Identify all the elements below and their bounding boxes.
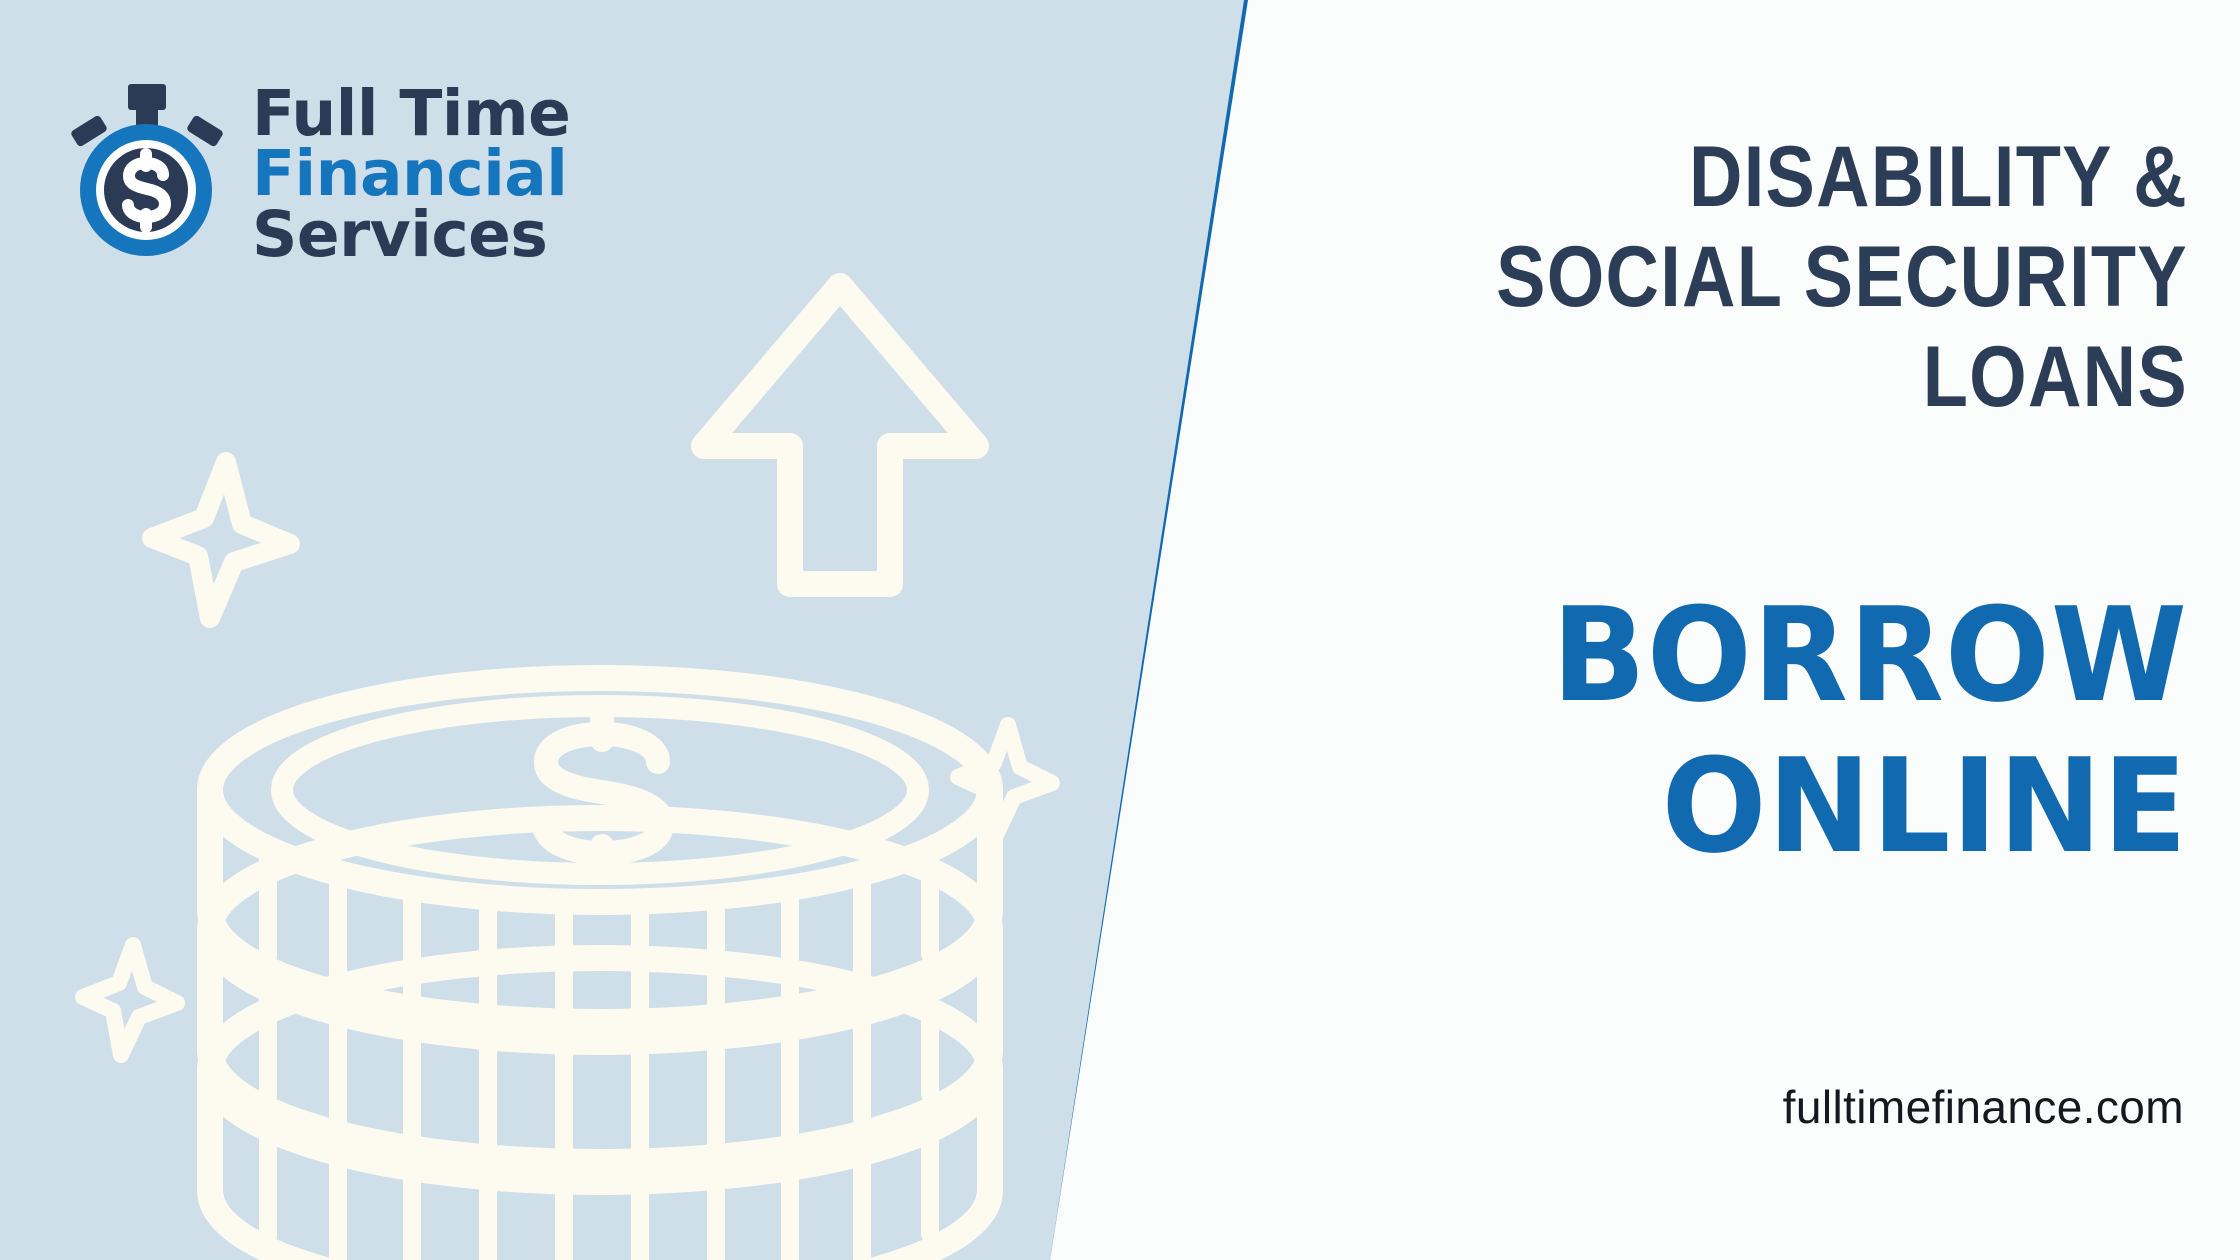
headline-line-1: DISABILITY & [1448,128,2188,228]
sparkle-star-icon [950,715,1060,845]
content-panel: DISABILITY & SOCIAL SECURITY LOANS BORRO… [1260,0,2240,1260]
headline-line-3: LOANS [1448,328,2188,428]
brand-logo[interactable]: Full Time Financial Services [62,78,570,265]
arrow-up-icon [690,270,990,600]
sparkle-star-icon [140,450,300,630]
coin-stack-dollar-icon [190,630,1010,1260]
website-url[interactable]: fulltimefinance.com [1783,1080,2184,1134]
logo-line-full-time: Full Time [252,84,570,144]
headline: DISABILITY & SOCIAL SECURITY LOANS [1448,128,2188,427]
sparkle-star-icon [75,935,185,1065]
stopwatch-dollar-icon [62,78,230,258]
promo-banner: Full Time Financial Services DISABILITY … [0,0,2240,1260]
subheadline: BORROW ONLINE [1371,580,2188,882]
artwork-panel: Full Time Financial Services [0,0,1260,1260]
brand-logo-text: Full Time Financial Services [252,78,570,265]
logo-line-services: Services [252,205,570,265]
subheadline-line-2: ONLINE [1371,731,2188,882]
logo-line-financial: Financial [252,144,570,204]
subheadline-line-1: BORROW [1371,580,2188,731]
headline-line-2: SOCIAL SECURITY [1448,228,2188,328]
